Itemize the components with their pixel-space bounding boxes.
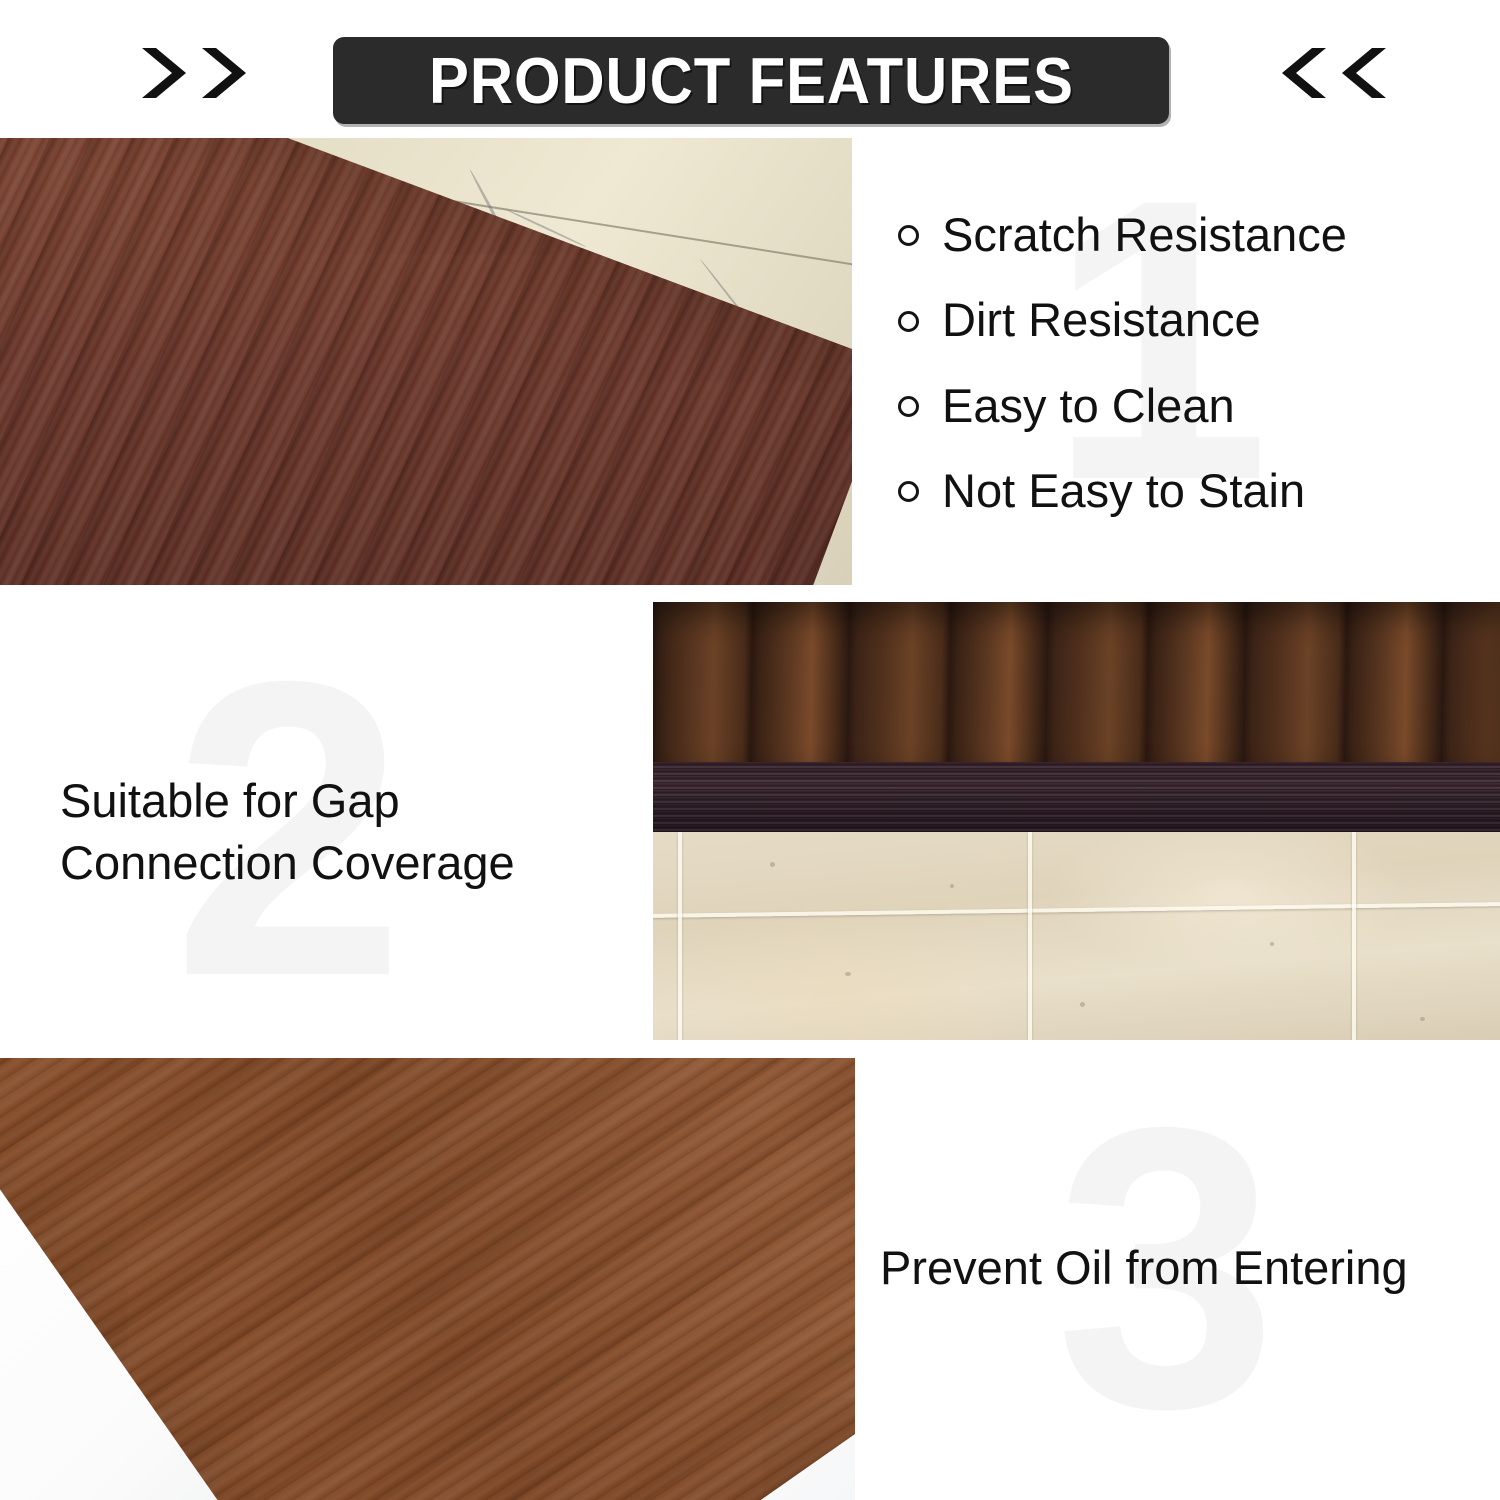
feature-label: Easy to Clean — [942, 381, 1235, 430]
feature-block-1: 1 Scratch Resistance Dirt Resistance Eas… — [898, 180, 1478, 550]
list-item: Easy to Clean — [898, 381, 1478, 430]
tile-speck — [950, 884, 954, 888]
list-item: Not Easy to Stain — [898, 466, 1478, 515]
double-chevron-right-icon — [136, 44, 252, 102]
feature-list-1: Scratch Resistance Dirt Resistance Easy … — [898, 180, 1478, 515]
list-item: Dirt Resistance — [898, 295, 1478, 344]
page-title-badge: PRODUCT FEATURES — [333, 37, 1169, 124]
list-item: Scratch Resistance — [898, 210, 1478, 259]
travertine-tile-surface — [653, 832, 1500, 1040]
travertine-tile-area — [653, 832, 1500, 1040]
photo-white-panel-strip-wood-floor — [0, 1058, 855, 1500]
hollow-circle-bullet-icon — [898, 225, 919, 246]
feature-label: Scratch Resistance — [942, 210, 1347, 259]
feature-caption-2: Suitable for Gap Connection Coverage — [60, 640, 620, 894]
double-chevron-left-icon — [1276, 44, 1392, 102]
hollow-circle-bullet-icon — [898, 311, 919, 332]
photo-wood-plank-on-marble-tile — [0, 138, 852, 585]
feature-caption-line: Suitable for Gap — [60, 770, 620, 832]
tile-grout-line — [1352, 832, 1356, 1040]
feature-caption-line: Connection Coverage — [60, 832, 620, 894]
chevron-right-icon-1 — [136, 44, 192, 102]
tile-speck — [1080, 1002, 1085, 1007]
transition-strip-surface — [653, 762, 1500, 832]
feature-caption-line: Prevent Oil from Entering — [880, 1240, 1480, 1296]
tile-speck — [1420, 1017, 1425, 1021]
header-bar: PRODUCT FEATURES — [0, 0, 1500, 138]
hollow-circle-bullet-icon — [898, 481, 919, 502]
feature-label: Not Easy to Stain — [942, 466, 1305, 515]
tile-speck — [770, 862, 775, 867]
rustic-wood-planks-surface — [653, 602, 1500, 762]
hollow-circle-bullet-icon — [898, 396, 919, 417]
tile-speck — [1270, 942, 1274, 946]
tile-grout-line — [653, 902, 1500, 918]
photo-planks-strip-travertine — [653, 602, 1500, 1040]
chevron-left-icon-1 — [1276, 44, 1332, 102]
tile-grout-line — [1028, 832, 1032, 1040]
tile-grout-line — [678, 832, 682, 1040]
feature-label: Dirt Resistance — [942, 295, 1261, 344]
chevron-left-icon-2 — [1336, 44, 1392, 102]
feature-block-3: 3 Prevent Oil from Entering — [880, 1130, 1480, 1430]
page-title: PRODUCT FEATURES — [429, 48, 1074, 113]
feature-block-2: 2 Suitable for Gap Connection Coverage — [60, 640, 620, 1000]
chevron-right-icon-2 — [196, 44, 252, 102]
feature-caption-3: Prevent Oil from Entering — [880, 1130, 1480, 1296]
tile-speck — [845, 972, 851, 976]
